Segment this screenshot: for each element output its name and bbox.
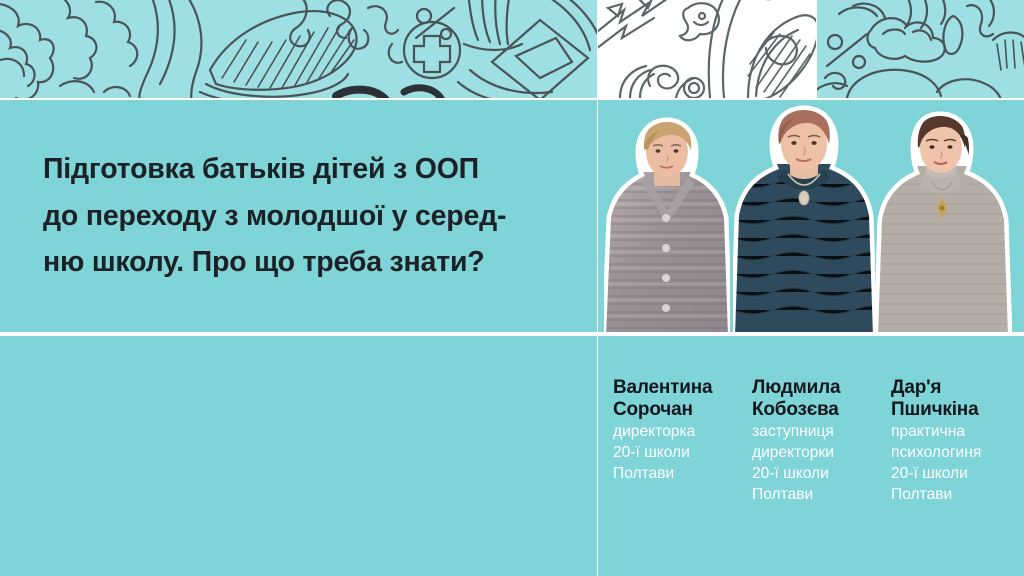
speaker-role-1: директорка 20-ї школи Полтави (613, 422, 752, 485)
title-line-3: ню школу. Про що треба знати? (43, 239, 563, 286)
event-info-block: НУШ НОВА УКРАЇНСЬКА ШКОЛА (0, 336, 597, 576)
speaker-1-name-line-2: Сорочан (613, 399, 752, 421)
promo-poster: Підготовка батьків дітей з ООП до перехо… (0, 0, 1024, 576)
doodle-panel-left (0, 0, 597, 98)
title-line-2: до переходу з молодшої у серед- (43, 193, 563, 240)
speaker-1-role-line-2: 20-ї школи (613, 443, 752, 464)
top-doodle-band (0, 0, 1024, 98)
speaker-2-name-line-2: Кобозєва (752, 399, 891, 421)
speaker-2-role-line-1: заступниця (752, 422, 891, 443)
speaker-photos-block (598, 100, 1024, 332)
speaker-role-3: практична психологиня 20-ї школи Полтави (891, 422, 1024, 506)
middle-band: Підготовка батьків дітей з ООП до перехо… (0, 100, 1024, 332)
speaker-3-role-line-1: практична (891, 422, 1024, 443)
speaker-2-role-line-2: директорки (752, 443, 891, 464)
speaker-1-role-line-3: Полтави (613, 464, 752, 485)
speaker-3-name-line-2: Пшичкіна (891, 399, 1024, 421)
speaker-name-1: Валентина Сорочан (613, 377, 752, 420)
speaker-2-role-line-3: 20-ї школи (752, 464, 891, 485)
page-title: Підготовка батьків дітей з ООП до перехо… (43, 146, 563, 286)
title-block: Підготовка батьків дітей з ООП до перехо… (0, 100, 597, 332)
speaker-1-name-line-1: Валентина (613, 377, 752, 399)
speaker-2-role-line-4: Полтави (752, 485, 891, 506)
title-line-1: Підготовка батьків дітей з ООП (43, 146, 563, 193)
speaker-name-2: Людмила Кобозєва (752, 377, 891, 420)
speaker-3-name-line-1: Дар'я (891, 377, 1024, 399)
speaker-photo-valentyna (604, 114, 730, 332)
bottom-band: НУШ НОВА УКРАЇНСЬКА ШКОЛА (0, 336, 1024, 576)
doodle-panel-center (598, 0, 816, 98)
speaker-3-role-line-4: Полтави (891, 485, 1024, 506)
speakers-block: Валентина Сорочан директорка 20-ї школи … (598, 336, 1024, 576)
speaker-card-1: Валентина Сорочан директорка 20-ї школи … (613, 377, 752, 506)
doodle-panel-right (817, 0, 1024, 98)
speaker-role-2: заступниця директорки 20-ї школи Полтави (752, 422, 891, 506)
speaker-1-role-line-1: директорка (613, 422, 752, 443)
speakers-row: Валентина Сорочан директорка 20-ї школи … (613, 377, 1024, 506)
speaker-card-3: Дар'я Пшичкіна практична психологиня 20-… (891, 377, 1024, 506)
speaker-3-role-line-2: психологиня (891, 443, 1024, 464)
speaker-name-3: Дар'я Пшичкіна (891, 377, 1024, 420)
speaker-2-name-line-1: Людмила (752, 377, 891, 399)
speaker-photo-daria (874, 110, 1012, 332)
speaker-3-role-line-3: 20-ї школи (891, 464, 1024, 485)
speaker-card-2: Людмила Кобозєва заступниця директорки 2… (752, 377, 891, 506)
speaker-photo-liudmyla (733, 104, 875, 332)
